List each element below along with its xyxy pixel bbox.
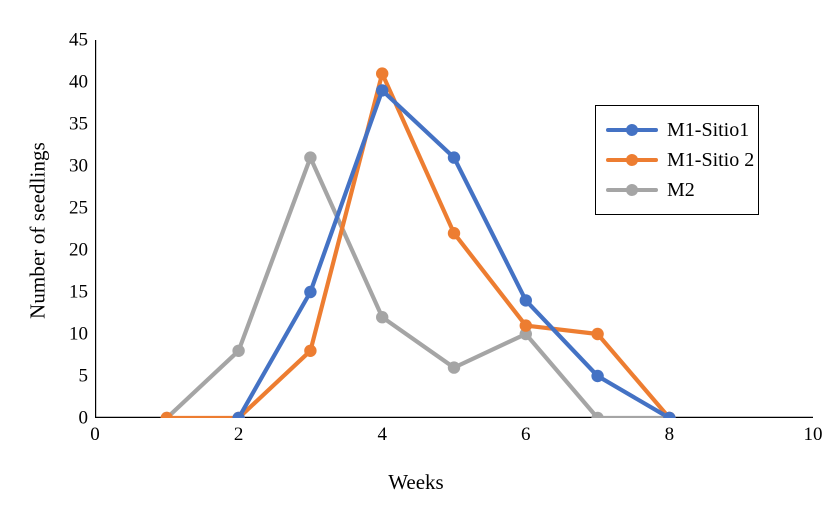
legend-swatch-icon xyxy=(606,153,658,167)
legend-item[interactable]: M1-Sitio 2 xyxy=(606,145,746,175)
y-tick-label: 35 xyxy=(48,115,88,134)
y-tick-label: 20 xyxy=(48,241,88,260)
series-marker xyxy=(376,67,388,79)
legend-swatch-icon xyxy=(606,123,658,137)
legend-item[interactable]: M2 xyxy=(606,175,746,205)
legend-label: M2 xyxy=(667,180,695,200)
y-tick-label: 15 xyxy=(48,283,88,302)
series-marker xyxy=(520,294,532,306)
series-marker xyxy=(591,328,603,340)
series-marker xyxy=(232,345,244,357)
line-chart: Number of seedlings 051015202530354045 0… xyxy=(0,0,832,517)
legend-item[interactable]: M1-Sitio1 xyxy=(606,115,746,145)
x-tick-label: 8 xyxy=(639,425,699,444)
chart-legend: M1-Sitio1M1-Sitio 2M2 xyxy=(595,105,759,215)
plot-svg xyxy=(95,40,813,418)
x-tick-label: 0 xyxy=(65,425,125,444)
x-tick-label: 4 xyxy=(352,425,412,444)
legend-label: M1-Sitio1 xyxy=(667,120,749,140)
series-marker xyxy=(376,84,388,96)
legend-label: M1-Sitio 2 xyxy=(667,150,754,170)
y-tick-label: 40 xyxy=(48,73,88,92)
y-axis-tick-labels: 051015202530354045 xyxy=(40,40,88,418)
series-marker xyxy=(520,319,532,331)
x-tick-label: 6 xyxy=(496,425,556,444)
series-marker xyxy=(304,151,316,163)
y-tick-label: 25 xyxy=(48,199,88,218)
y-tick-label: 10 xyxy=(48,325,88,344)
x-axis-tick-labels: 0246810 xyxy=(95,425,813,455)
x-tick-label: 2 xyxy=(209,425,269,444)
series-marker xyxy=(304,345,316,357)
x-tick-label: 10 xyxy=(783,425,832,444)
y-tick-label: 45 xyxy=(48,31,88,50)
x-axis-title: Weeks xyxy=(0,470,832,495)
y-tick-label: 30 xyxy=(48,157,88,176)
series-marker xyxy=(376,311,388,323)
plot-area xyxy=(95,40,813,418)
series-marker xyxy=(448,361,460,373)
series-marker xyxy=(448,227,460,239)
series-marker xyxy=(448,151,460,163)
series-marker xyxy=(304,286,316,298)
series-marker xyxy=(591,370,603,382)
y-tick-label: 5 xyxy=(48,367,88,386)
legend-swatch-icon xyxy=(606,183,658,197)
